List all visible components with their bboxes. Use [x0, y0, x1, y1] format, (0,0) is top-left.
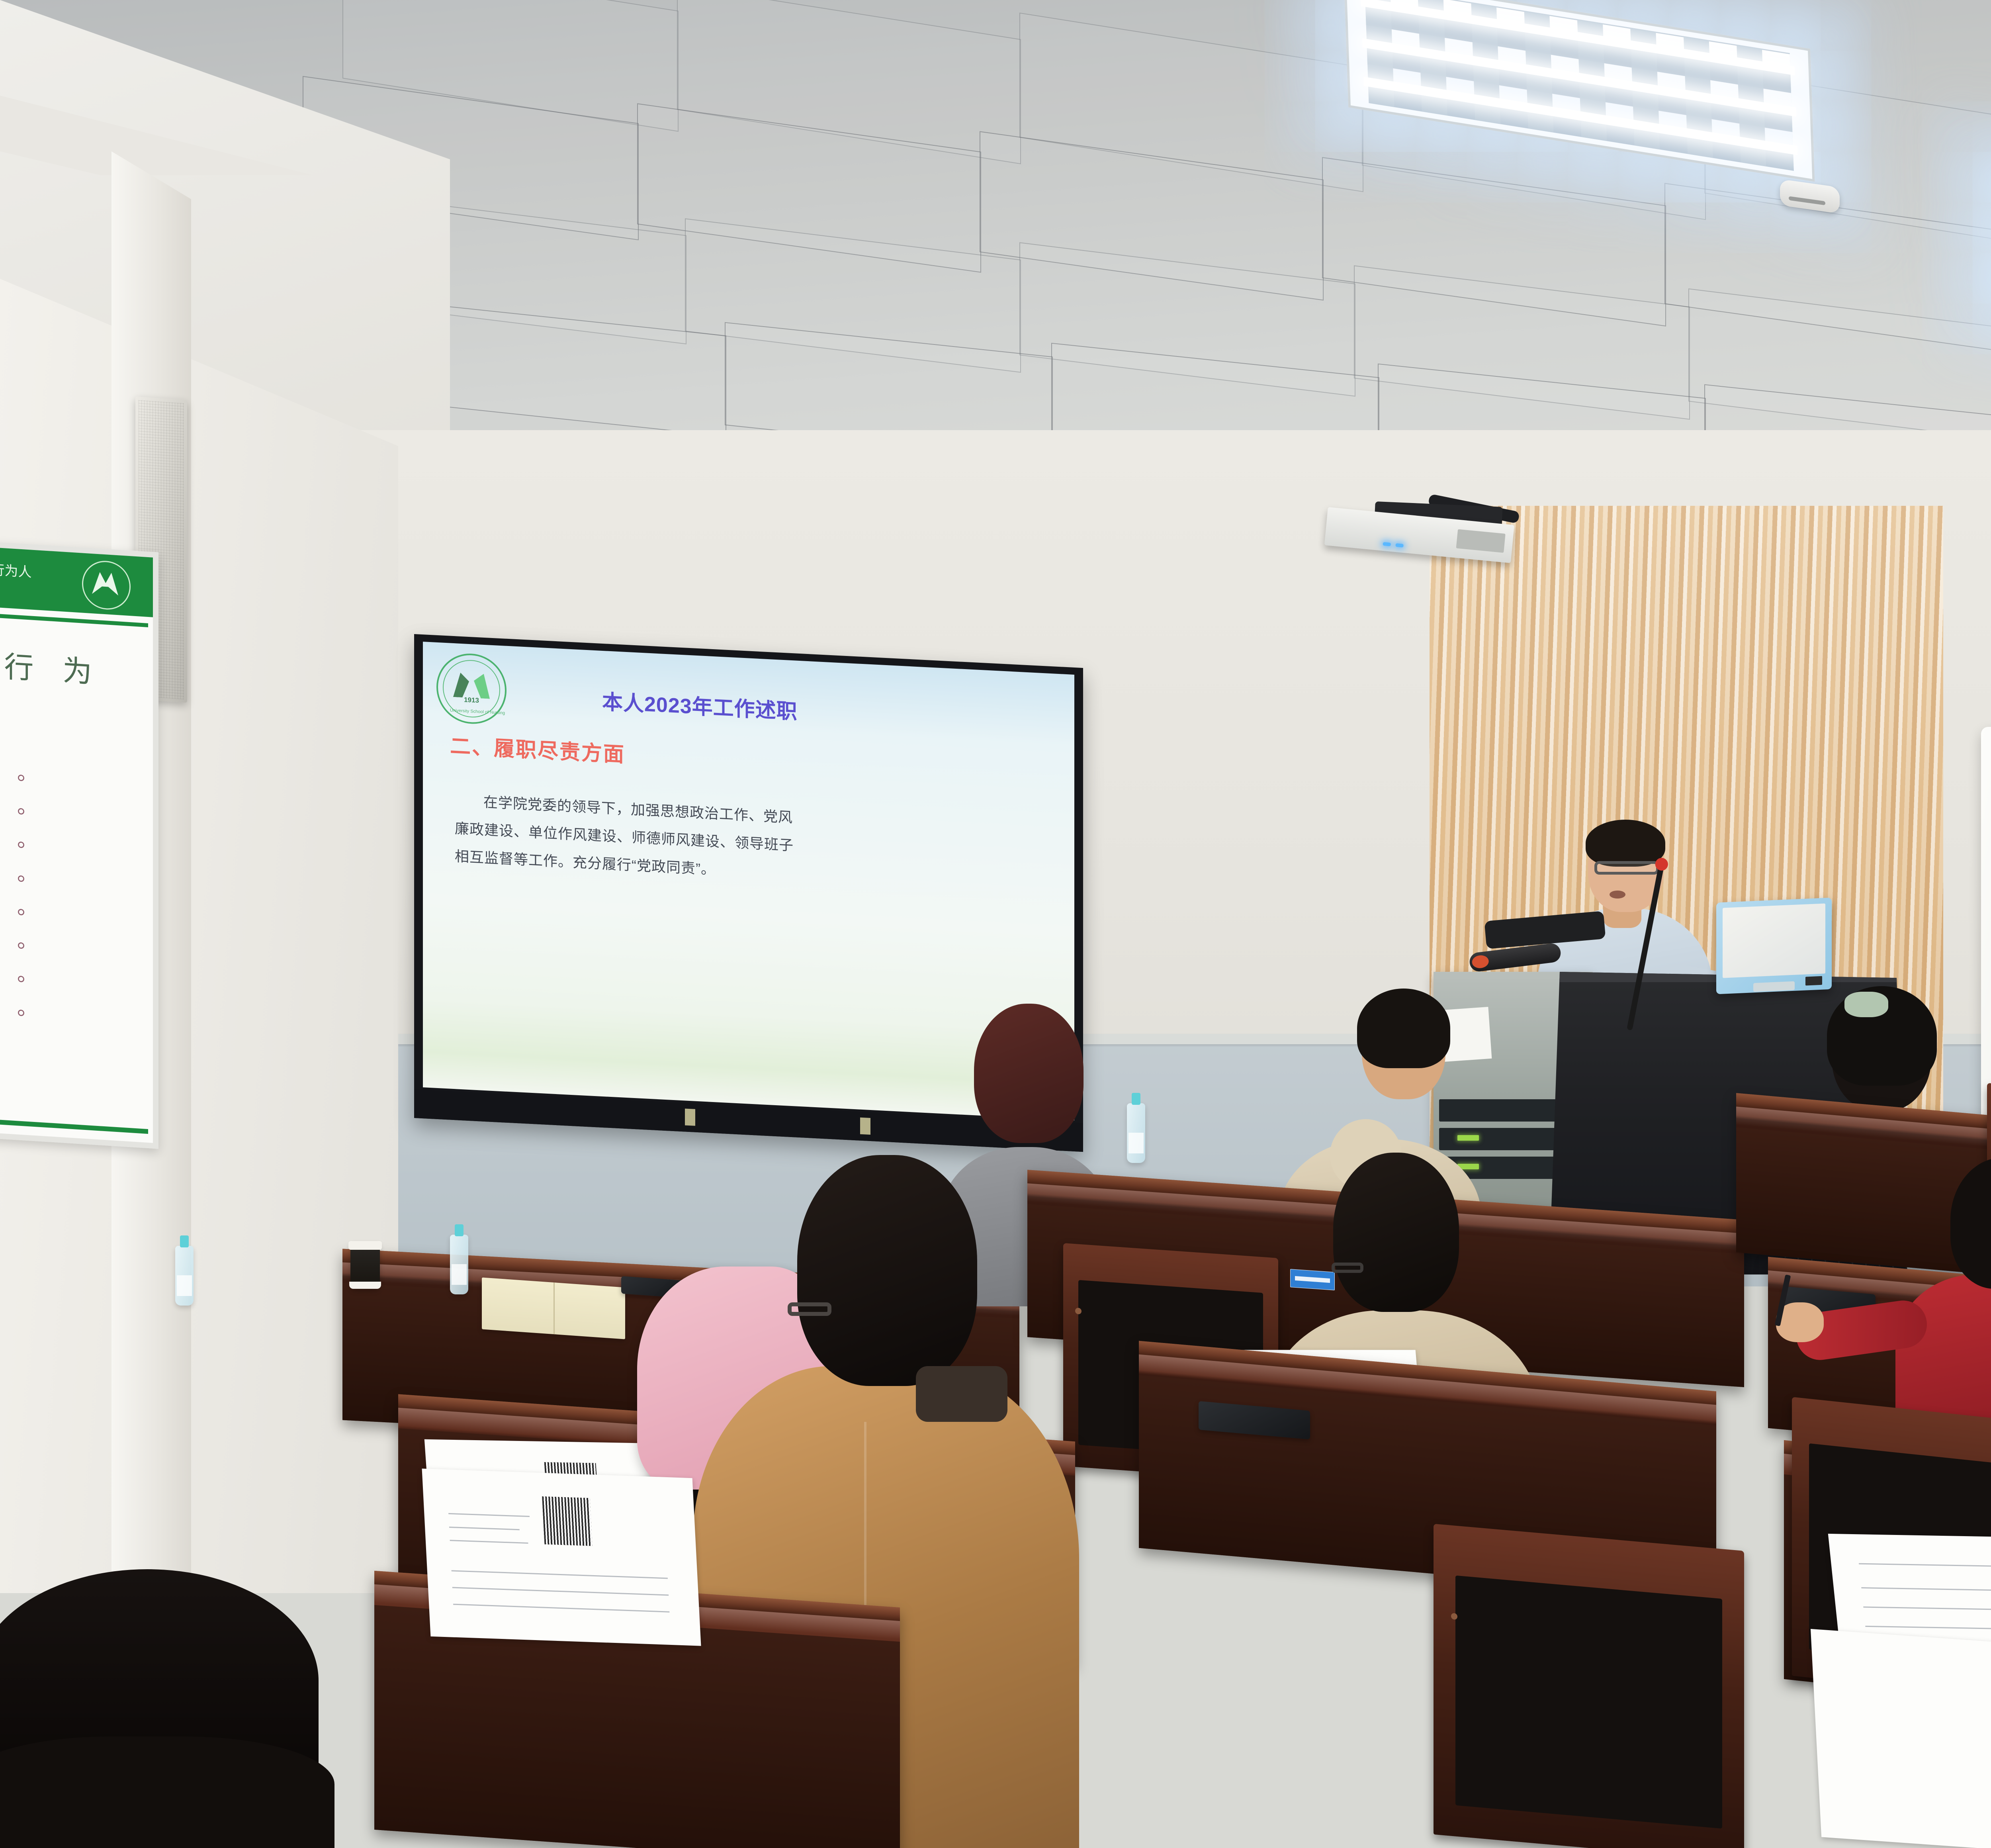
water-bottle — [450, 1235, 468, 1294]
logo-english-text: University School of Nursing — [450, 708, 493, 715]
hair-accessory — [1844, 992, 1888, 1017]
poster-logo-icon — [82, 560, 131, 611]
logo-year: 1913 — [453, 695, 490, 705]
attendee-front-left-silhouette — [0, 1569, 327, 1848]
attendee-woman-red-sweater — [1895, 1155, 1991, 1434]
meeting-room-photo: 12 1 2 3 4 5 6 7 8 9 10 11 规范 行为人 生 行 为 … — [0, 0, 1991, 1848]
chair[interactable] — [1434, 1524, 1744, 1848]
water-bottle — [1127, 1103, 1145, 1163]
water-bottle — [175, 1246, 194, 1306]
glasses-icon — [1594, 861, 1659, 875]
printed-document — [422, 1468, 701, 1646]
printed-document — [1811, 1629, 1991, 1848]
presenter-mouth — [1610, 891, 1625, 899]
notebook — [482, 1277, 625, 1339]
slide-body: 在学院党委的领导下，加强思想政治工作、党风 廉政建设、单位作风建设、师德师风建设… — [455, 787, 1042, 900]
coat-collar — [916, 1366, 1007, 1422]
poster-header: 规范 行为人 — [0, 545, 153, 617]
coffee-cup — [350, 1242, 380, 1289]
school-logo-icon: 1913 University School of Nursing — [436, 652, 507, 726]
presenter-hair — [1586, 820, 1665, 867]
poster-lines: 信 念 。 人 民 。 不 息 。 正 气 。 律 己 。 友 爱 。 奋 斗 … — [0, 751, 145, 1032]
slide-title: 本人2023年工作述职 — [602, 685, 798, 725]
poster-title: 生 行 为 — [0, 639, 153, 695]
poster-header-text: 规范 行为人 — [0, 560, 31, 581]
slide-heading: 二、履职尽责方面 — [450, 729, 625, 768]
wall-poster: 规范 行为人 生 行 为 信 念 。 人 民 。 不 息 。 正 气 。 律 己… — [0, 539, 158, 1149]
glasses-icon — [788, 1302, 831, 1316]
glasses-icon — [1332, 1263, 1363, 1273]
